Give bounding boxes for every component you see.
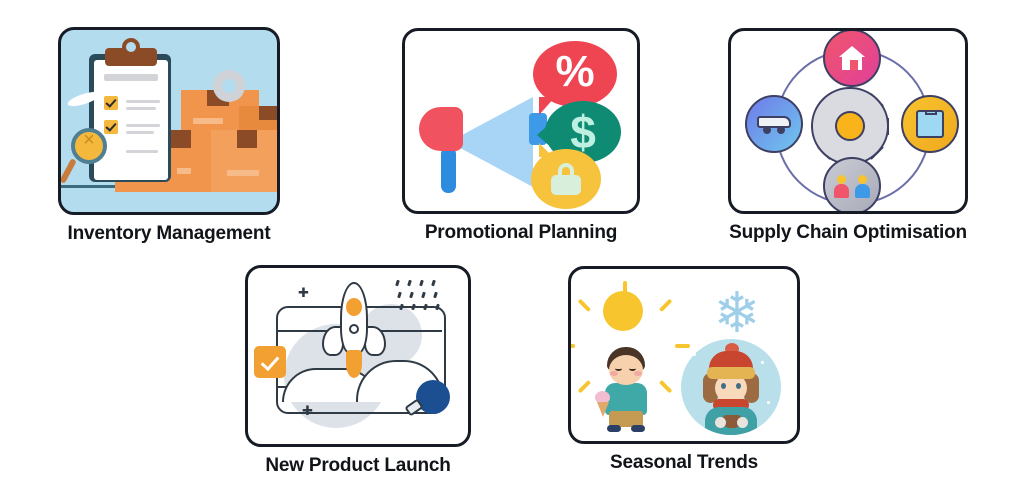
rocket-icon (326, 282, 382, 368)
checkbox-checked-icon (254, 346, 286, 378)
girl-eye (721, 383, 726, 389)
gear-icon (811, 87, 889, 165)
sparkle-icon: ✚ (298, 286, 309, 299)
clipboard-paper (94, 60, 168, 180)
warehouse-glyph (839, 46, 865, 70)
sun-disc (603, 291, 643, 331)
warehouse-icon (823, 29, 881, 87)
boy-cheek (634, 371, 642, 376)
box-tab (171, 130, 191, 148)
ice-cream-icon (595, 391, 611, 417)
lock-icon (551, 163, 581, 195)
people-icon (823, 157, 881, 214)
boy-shoe (607, 425, 621, 432)
gear-hub (835, 111, 865, 141)
girl-eye (736, 383, 741, 389)
supply-chain-optimisation-illustration (728, 28, 968, 214)
rocket-window (346, 298, 362, 316)
speed-dots (396, 280, 440, 314)
new-product-launch-illustration: ✚ ✚ (245, 265, 471, 447)
truck-wheel (763, 126, 771, 134)
boy-eye (615, 366, 622, 371)
percent-bubble-icon: % (533, 41, 617, 107)
girl-with-hot-drink-icon (681, 339, 781, 435)
truck-icon (745, 95, 803, 153)
card-label-promotional-planning: Promotional Planning (425, 223, 617, 244)
box-tape (227, 170, 259, 176)
parcel-icon (901, 95, 959, 153)
inventory-management-illustration (58, 27, 280, 215)
bubble-tail (539, 143, 553, 157)
card-board: Inventory Management % $ (0, 0, 1024, 496)
truck-glyph (757, 114, 791, 134)
rocket-window (349, 324, 359, 334)
paper-line (126, 107, 156, 110)
box-tab (237, 130, 257, 148)
magnifier-handle (59, 158, 77, 184)
warehouse-door (850, 60, 858, 70)
snowflake-icon: ❄ (709, 285, 765, 341)
rocket-flame (346, 350, 362, 378)
lock-bubble-icon (531, 149, 601, 209)
girl-hand (715, 417, 726, 428)
card-seasonal-trends[interactable]: ❄ (568, 266, 800, 474)
truck-wheel (777, 126, 785, 134)
hat-brim (707, 367, 755, 379)
person-glyph (834, 184, 849, 198)
card-new-product-launch[interactable]: ✚ ✚ New Product Launch (245, 265, 471, 477)
lightbulb-icon (416, 380, 450, 414)
box-tape (193, 118, 223, 124)
checkbox-checked-icon (104, 120, 118, 134)
clipboard-ring (122, 38, 140, 56)
people-glyph (834, 174, 870, 198)
paper-line (126, 100, 160, 103)
ice-cream-cone (597, 402, 609, 417)
sparkle-icon: ✚ (302, 404, 313, 417)
truck-cab (757, 116, 791, 128)
boy-shoe (631, 425, 645, 432)
sun-icon (603, 291, 643, 331)
dollar-glyph: $ (570, 109, 596, 155)
paper-line (126, 150, 158, 153)
boy-eye (629, 366, 636, 371)
gear-hub (222, 79, 236, 93)
box-tab (259, 106, 277, 120)
girl-hand (737, 417, 748, 428)
card-label-seasonal-trends: Seasonal Trends (610, 453, 758, 474)
clipboard-icon (89, 54, 171, 182)
paper-title-bar (104, 74, 158, 81)
boy-cheek (610, 371, 618, 376)
boy-with-ice-cream-icon (595, 347, 659, 433)
card-inventory-management[interactable]: Inventory Management (58, 27, 280, 245)
card-promotional-planning[interactable]: % $ Promotional Planning (402, 28, 640, 244)
person-glyph (855, 184, 870, 198)
checkbox-checked-icon (104, 96, 118, 110)
girl-figure (699, 347, 763, 435)
card-label-new-product-launch: New Product Launch (265, 456, 450, 477)
card-supply-chain-optimisation[interactable]: Supply Chain Optimisation (728, 28, 968, 244)
megaphone-body (419, 107, 463, 151)
boy-face (609, 355, 643, 385)
card-label-inventory-management: Inventory Management (68, 224, 271, 245)
rocket-hull (340, 282, 368, 354)
seasonal-trends-illustration: ❄ (568, 266, 800, 444)
paper-line (126, 131, 154, 134)
parcel-glyph (916, 110, 944, 138)
magnifier-icon (71, 128, 107, 164)
paper-line (126, 124, 160, 127)
percent-glyph: % (555, 50, 594, 94)
promotional-planning-illustration: % $ (402, 28, 640, 214)
card-label-supply-chain-optimisation: Supply Chain Optimisation (729, 223, 967, 244)
cardboard-box-icon (211, 130, 280, 192)
gear-icon (213, 70, 245, 102)
lock-body (551, 175, 581, 195)
